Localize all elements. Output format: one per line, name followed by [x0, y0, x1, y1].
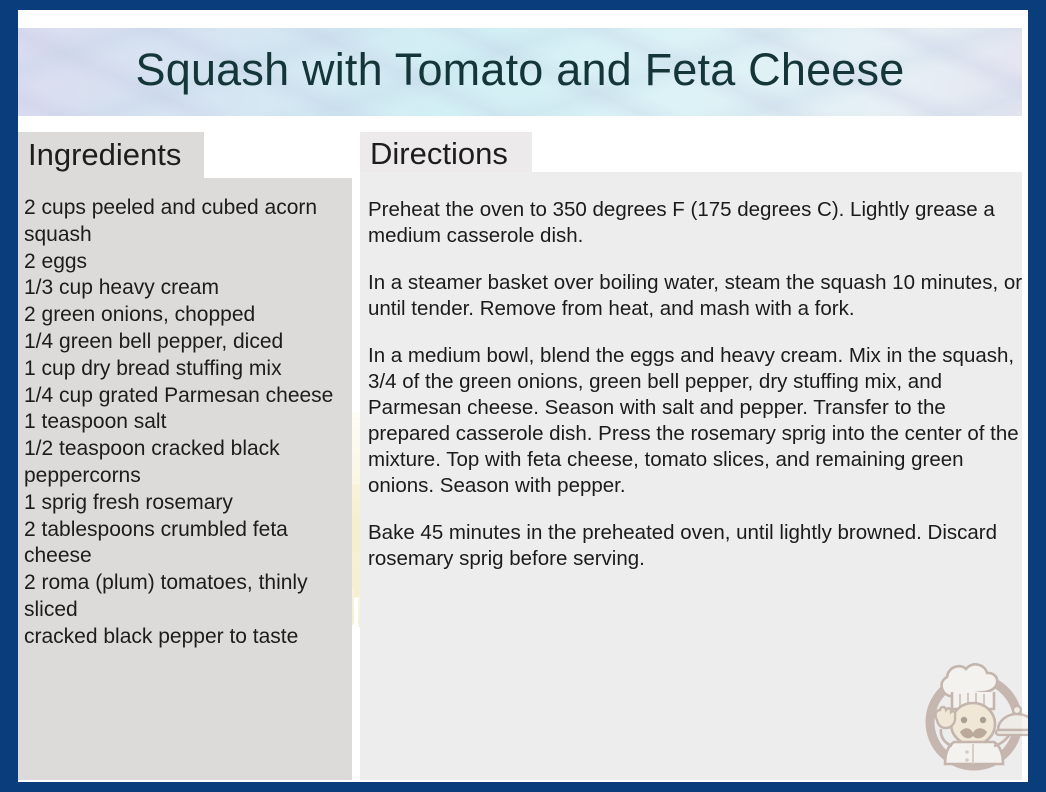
- recipe-card: Squash with Tomato and Feta Cheese: [0, 0, 1046, 792]
- ingredient-item: 2 green onions, chopped: [24, 302, 349, 329]
- directions-tab-label: Directions: [370, 136, 508, 172]
- ingredient-item: 1/3 cup heavy cream: [24, 275, 349, 302]
- directions-steps: Preheat the oven to 350 degrees F (175 d…: [368, 197, 1023, 572]
- title-banner: Squash with Tomato and Feta Cheese: [18, 28, 1022, 116]
- direction-step: In a medium bowl, blend the eggs and hea…: [368, 343, 1023, 499]
- ingredient-item: cracked black pepper to taste: [24, 624, 349, 651]
- direction-step: Bake 45 minutes in the preheated oven, u…: [368, 520, 1023, 572]
- ingredient-item: 1 cup dry bread stuffing mix: [24, 356, 349, 383]
- ingredient-item: 2 roma (plum) tomatoes, thinly sliced: [24, 570, 349, 624]
- directions-tab[interactable]: Directions: [360, 132, 532, 172]
- page-title: Squash with Tomato and Feta Cheese: [136, 44, 905, 100]
- ingredients-tab-label: Ingredients: [28, 137, 181, 173]
- ingredient-item: 2 tablespoons crumbled feta cheese: [24, 517, 349, 571]
- direction-step: Preheat the oven to 350 degrees F (175 d…: [368, 197, 1023, 249]
- recipe-card-inner: Squash with Tomato and Feta Cheese: [18, 10, 1028, 782]
- ingredient-item: 1 teaspoon salt: [24, 409, 349, 436]
- ingredient-item: 1 sprig fresh rosemary: [24, 490, 349, 517]
- ingredients-tab[interactable]: Ingredients: [18, 132, 204, 178]
- ingredient-item: 2 cups peeled and cubed acorn squash: [24, 195, 349, 249]
- ingredient-item: 1/4 green bell pepper, diced: [24, 329, 349, 356]
- direction-step: In a steamer basket over boiling water, …: [368, 270, 1023, 322]
- ingredient-item: 1/4 cup grated Parmesan cheese: [24, 383, 349, 410]
- ingredient-item: 1/2 teaspoon cracked black peppercorns: [24, 436, 349, 490]
- ingredients-list: 2 cups peeled and cubed acorn squash2 eg…: [24, 195, 349, 651]
- ingredient-item: 2 eggs: [24, 249, 349, 276]
- chef-with-cloche-logo: [910, 650, 1028, 778]
